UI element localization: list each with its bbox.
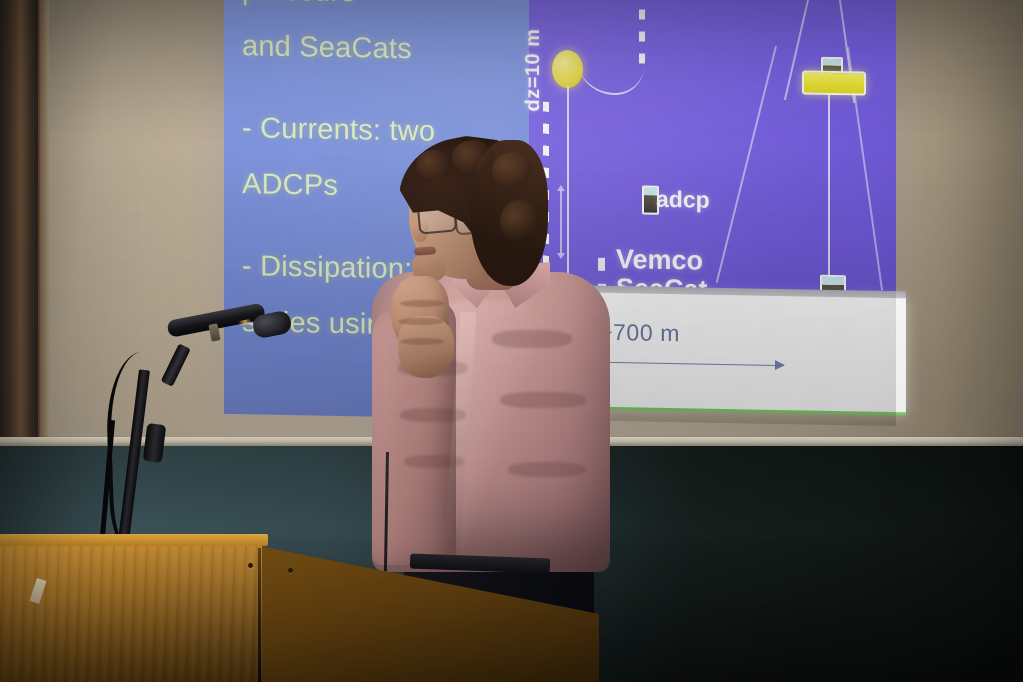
- hair-curl-1: [416, 150, 452, 180]
- finger-crease-2: [398, 318, 444, 325]
- lectern-corner-seam: [258, 548, 261, 682]
- bullet-seacats: and SeaCats: [242, 18, 532, 79]
- hair-curl-4: [500, 200, 538, 244]
- hair-curl-3: [492, 152, 532, 188]
- shirt-fold-5: [500, 392, 586, 408]
- scale-label: ~700 m: [599, 319, 680, 347]
- slide-right-panel: [529, 0, 896, 300]
- dz-measure-arrow: [560, 190, 562, 254]
- speaker-hand-lower: [398, 316, 454, 378]
- vemco-label: Vemco: [616, 244, 703, 277]
- shirt-fold-6: [508, 462, 586, 477]
- mooring-wire-right: [828, 77, 830, 289]
- lectern-wood-grain: [0, 543, 262, 682]
- finger-crease-1: [400, 300, 444, 307]
- adcp-label: adcp: [656, 186, 710, 214]
- scale-band: [561, 292, 906, 414]
- window-curtain: [0, 0, 40, 452]
- hair-curl-2: [452, 140, 494, 174]
- lectern-screw-right: [288, 568, 293, 573]
- shirt-fold-4: [492, 330, 572, 348]
- mooring-wire-left: [567, 86, 569, 301]
- photo-scene: pressure and SeaCats - Currents: two ADC…: [0, 0, 1023, 682]
- dz-axis-label: dz=10 m: [522, 28, 545, 111]
- surface-float-icon: [552, 50, 583, 89]
- lectern-screw-left: [248, 563, 253, 568]
- vemco-legend-tick: [598, 258, 605, 271]
- finger-crease-3: [400, 338, 444, 345]
- lectern-top-edge: [0, 534, 268, 546]
- yellow-float-collar: [802, 70, 866, 95]
- curtain-edge: [38, 0, 49, 452]
